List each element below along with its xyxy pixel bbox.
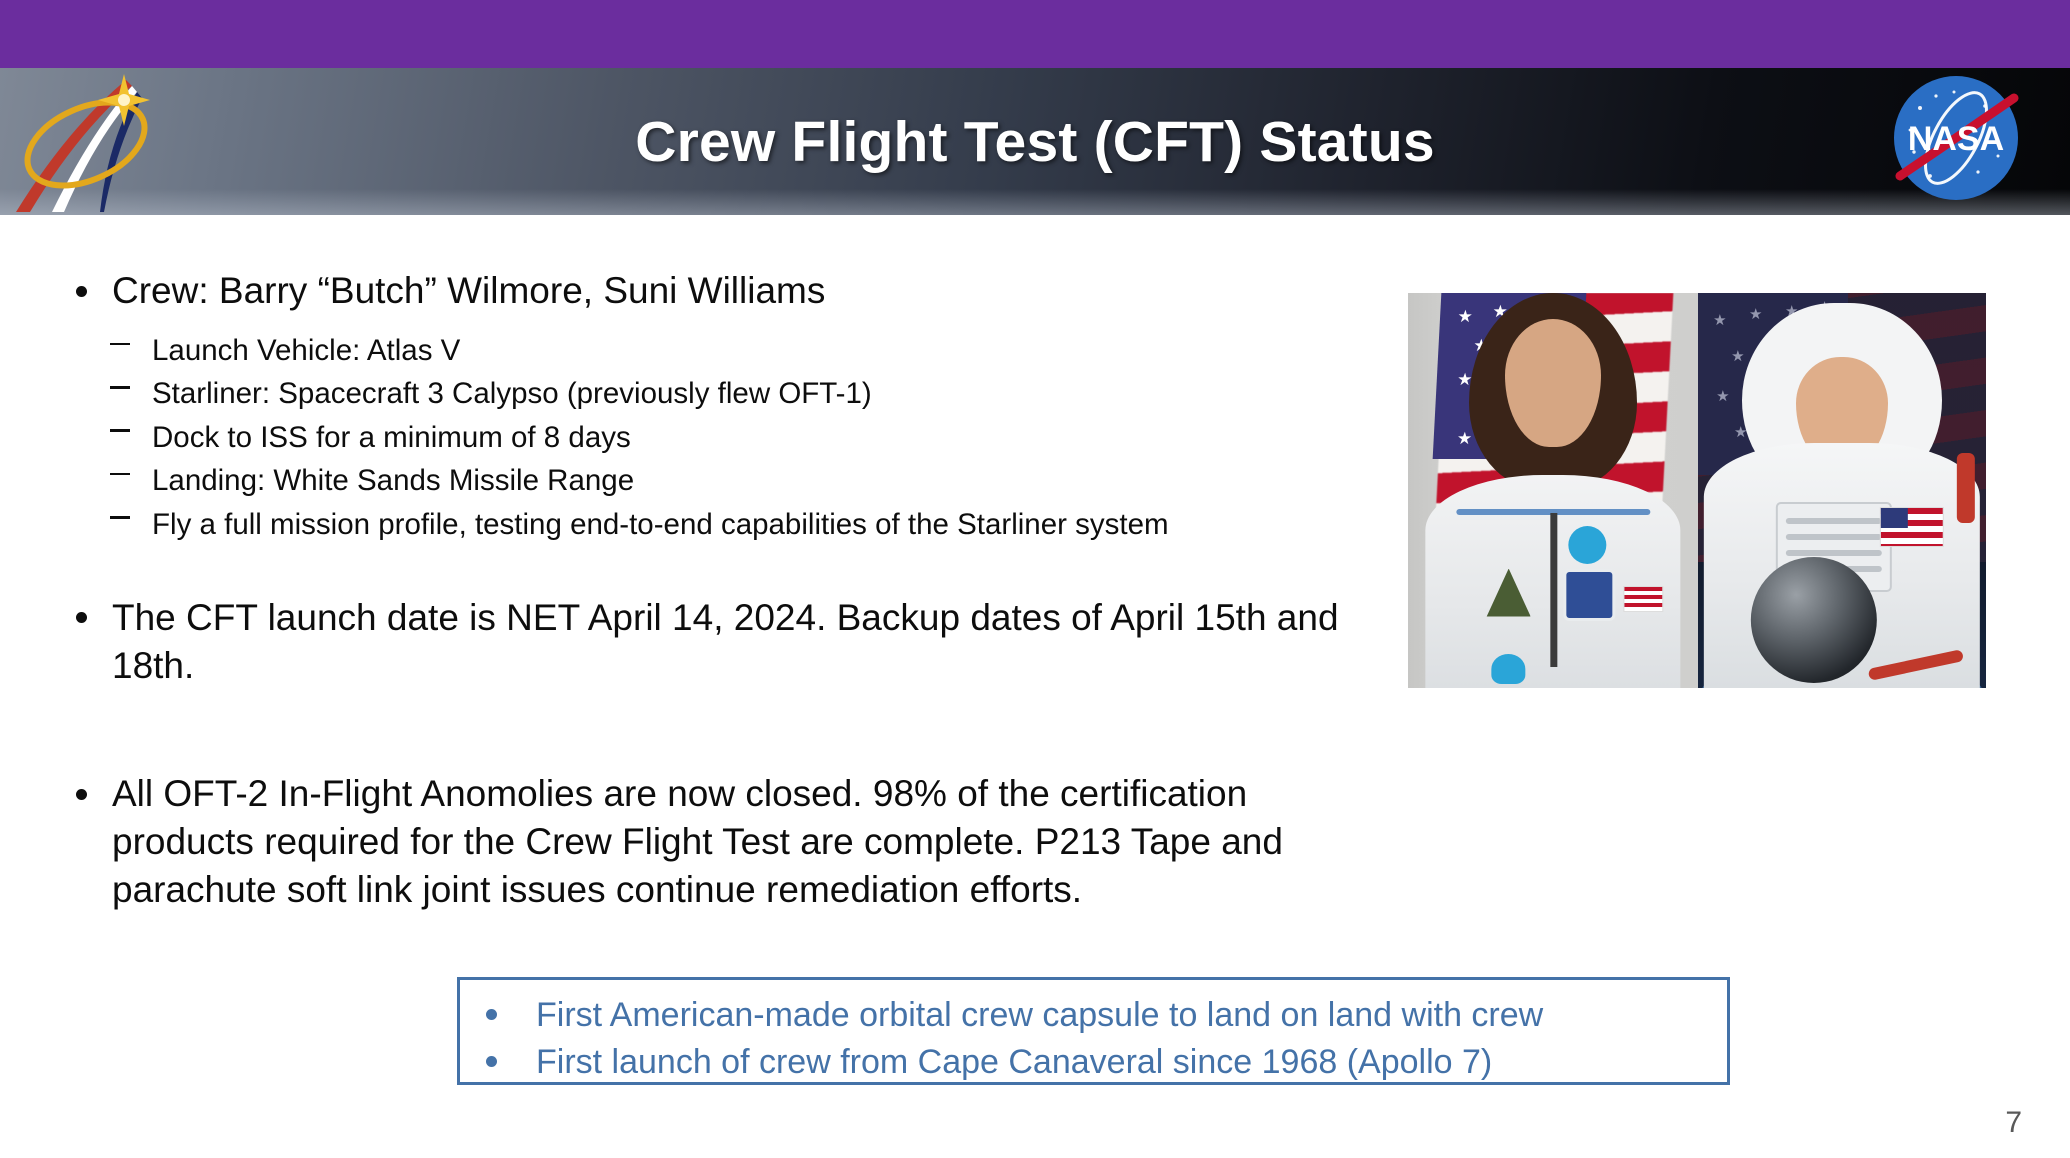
sub-bullet-text: Launch Vehicle: Atlas V (152, 334, 460, 367)
bullet-dot-icon (76, 612, 87, 623)
sub-bullet-text: Landing: White Sands Missile Range (152, 464, 634, 497)
bullet-list: Crew: Barry “Butch” Wilmore, Suni Willia… (66, 267, 1356, 924)
us-flag-patch (1880, 507, 1944, 547)
cft-crew-portrait: ★★ ★★ ★★ ★★ ★★ ★★ ★★ ★★ ★★ (1408, 293, 1986, 688)
callout-text: First American-made orbital crew capsule… (536, 996, 1543, 1034)
suit-red-stripe (1957, 453, 1975, 523)
presentation-slide: NASA Crew Flight Test (CFT) Status Crew:… (0, 0, 2070, 1158)
bullet-text: The CFT launch date is NET April 14, 202… (112, 597, 1339, 686)
spacesuit-emu (1704, 443, 1980, 688)
callout-list: First American-made orbital crew capsule… (460, 980, 1727, 1086)
purple-accent-band (0, 0, 2070, 68)
dash-icon (110, 516, 130, 519)
sub-bullet-text: Fly a full mission profile, testing end-… (152, 508, 1169, 541)
sub-bullet-item: Dock to ISS for a minimum of 8 days (66, 416, 1356, 459)
suit-zipper (1551, 513, 1558, 667)
mission-patch (1563, 569, 1615, 621)
bullet-item: The CFT launch date is NET April 14, 202… (66, 594, 1356, 690)
spacesuit-torso (1425, 475, 1680, 688)
page-title: Crew Flight Test (CFT) Status (0, 68, 2070, 215)
bullet-text: All OFT-2 In-Flight Anomolies are now cl… (112, 773, 1283, 910)
commercial-crew-program-logo (8, 72, 198, 212)
bullet-dot-icon (486, 1056, 497, 1067)
bullet-text: Crew: Barry “Butch” Wilmore, Suni Willia… (112, 270, 825, 311)
crew-photo-suni-williams: ★★ ★★ ★★ ★★ ★★ ★★ ★★ ★★ ★★ (1408, 293, 1698, 688)
crew-photo-butch-wilmore: ★★ ★★ ★★ ★★ ★★ ★★ ★★ (1698, 293, 1986, 688)
astronaut-face (1505, 319, 1601, 447)
bullet-item: Crew: Barry “Butch” Wilmore, Suni Willia… (66, 267, 1356, 315)
bullet-item: All OFT-2 In-Flight Anomolies are now cl… (66, 770, 1356, 914)
callout-text: First launch of crew from Cape Canaveral… (536, 1043, 1492, 1081)
callout-item: First launch of crew from Cape Canaveral… (460, 1039, 1727, 1086)
dash-icon (110, 429, 130, 432)
callout-item: First American-made orbital crew capsule… (460, 992, 1727, 1039)
nasa-wordmark-text: NASA (1908, 120, 2004, 158)
sub-bullet-item: Landing: White Sands Missile Range (66, 459, 1356, 502)
spacesuit-helmet (1751, 557, 1877, 683)
dash-icon (110, 343, 130, 346)
bullet-dot-icon (486, 1009, 497, 1020)
sub-bullet-item: Launch Vehicle: Atlas V (66, 329, 1356, 372)
page-number: 7 (2005, 1106, 2022, 1140)
sub-bullet-text: Dock to ISS for a minimum of 8 days (152, 421, 631, 454)
sub-bullet-item: Fly a full mission profile, testing end-… (66, 503, 1356, 546)
bullet-dot-icon (76, 286, 87, 297)
dash-icon (110, 473, 130, 476)
mission-patch (1487, 569, 1531, 617)
suit-connector (1568, 526, 1606, 564)
us-flag-patch (1623, 586, 1663, 612)
suit-red-stripe (1867, 649, 1963, 681)
nasa-meatball-logo: NASA (1890, 72, 2022, 204)
dash-icon (110, 386, 130, 389)
bullet-dot-icon (76, 789, 87, 800)
sub-bullet-item: Starliner: Spacecraft 3 Calypso (previou… (66, 372, 1356, 415)
spacer (66, 700, 1356, 770)
suit-connector (1492, 654, 1526, 684)
highlight-callout-box: First American-made orbital crew capsule… (457, 977, 1730, 1085)
sub-bullet-text: Starliner: Spacecraft 3 Calypso (previou… (152, 377, 872, 410)
sub-bullet-list: Launch Vehicle: Atlas V Starliner: Space… (66, 329, 1356, 546)
spacer (66, 546, 1356, 594)
